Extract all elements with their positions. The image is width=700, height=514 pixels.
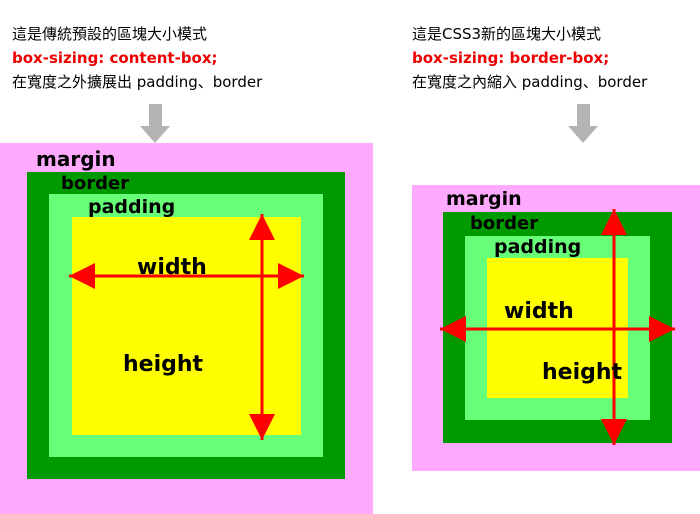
width-label: width	[137, 255, 207, 280]
left-caption-line-3: 在寬度之外擴展出 padding、border	[12, 70, 262, 94]
gray-arrow-shaft	[149, 104, 162, 128]
height-arrow-shaft	[613, 209, 616, 445]
height-arrow-head-top	[249, 214, 275, 240]
left-caption-block: 這是傳統預設的區塊大小模式 box-sizing: content-box; 在…	[12, 22, 262, 94]
width-arrow-shaft	[440, 328, 675, 331]
height-label: height	[542, 360, 622, 385]
height-arrow-shaft	[261, 214, 264, 440]
left-caption-line-1: 這是傳統預設的區塊大小模式	[12, 22, 262, 46]
height-arrow-head-top	[601, 209, 627, 235]
height-measure-arrow	[248, 214, 276, 440]
width-arrow-head-left	[69, 263, 95, 289]
height-label: height	[123, 352, 203, 377]
content-box-diagram: margin border padding width height	[0, 143, 373, 514]
margin-label: margin	[36, 147, 116, 171]
right-caption-block: 這是CSS3新的區塊大小模式 box-sizing: border-box; 在…	[412, 22, 647, 94]
right-caption-line-1: 這是CSS3新的區塊大小模式	[412, 22, 647, 46]
right-caption-line-3: 在寬度之內縮入 padding、border	[412, 70, 647, 94]
width-arrow-head-left	[440, 316, 466, 342]
width-arrow-head-right	[649, 316, 675, 342]
width-label: width	[504, 299, 574, 324]
padding-label: padding	[88, 196, 175, 218]
margin-label: margin	[446, 188, 522, 210]
border-label: border	[470, 213, 538, 234]
width-arrow-head-right	[278, 263, 304, 289]
height-arrow-head-bottom	[601, 419, 627, 445]
border-label: border	[61, 173, 129, 194]
border-box-diagram: margin border padding width height	[412, 185, 700, 471]
right-caption-code: box-sizing: border-box;	[412, 46, 647, 70]
left-caption-code: box-sizing: content-box;	[12, 46, 262, 70]
gray-arrow-shaft	[577, 104, 590, 128]
gray-arrow-head	[140, 126, 170, 143]
diagram-canvas: 這是傳統預設的區塊大小模式 box-sizing: content-box; 在…	[0, 0, 700, 514]
height-measure-arrow	[600, 209, 628, 445]
gray-down-arrow-icon	[568, 104, 599, 144]
gray-arrow-head	[568, 126, 598, 143]
padding-label: padding	[494, 236, 581, 258]
gray-down-arrow-icon	[140, 104, 171, 144]
height-arrow-head-bottom	[249, 414, 275, 440]
